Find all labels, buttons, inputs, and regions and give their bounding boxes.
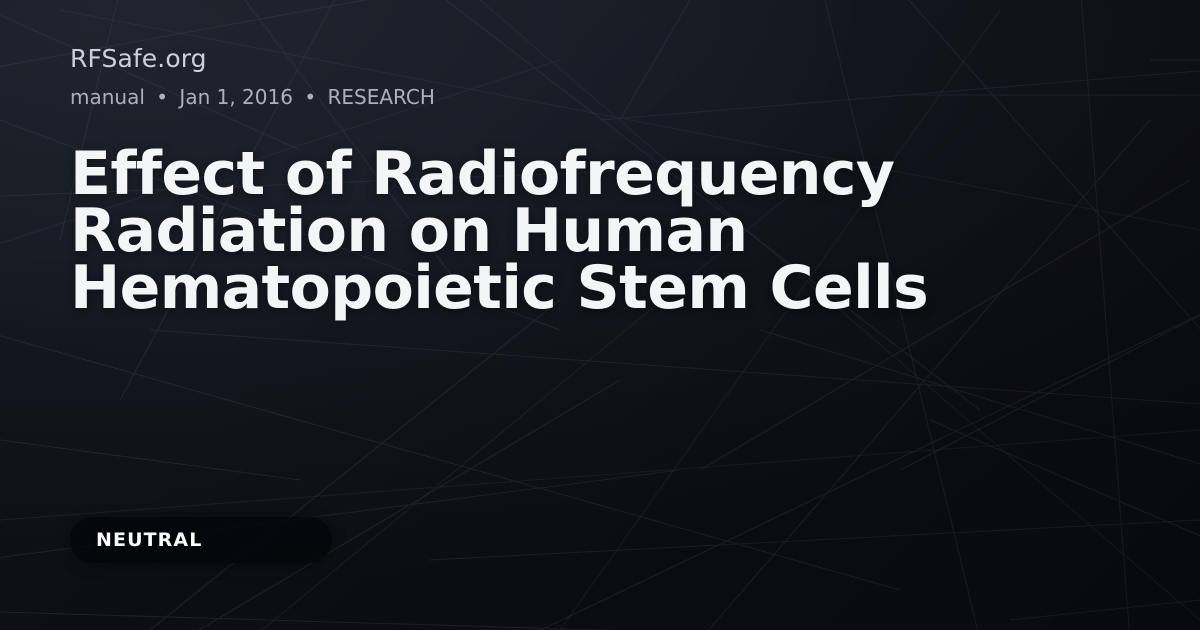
- article-meta: manual • Jan 1, 2016 • RESEARCH: [70, 84, 435, 110]
- status-badge-label: NEUTRAL: [96, 529, 202, 551]
- page-title-line-1: Effect of Radiofrequency: [70, 146, 970, 203]
- meta-separator-1: •: [151, 85, 173, 109]
- status-badge: NEUTRAL: [70, 517, 332, 563]
- meta-separator-2: •: [299, 85, 321, 109]
- meta-date: Jan 1, 2016: [179, 85, 293, 109]
- page-title: Effect of Radiofrequency Radiation on Hu…: [70, 146, 970, 317]
- meta-category: RESEARCH: [327, 85, 434, 109]
- page-title-line-2: Radiation on Human: [70, 203, 970, 260]
- social-share-card: RFSafe.org manual • Jan 1, 2016 • RESEAR…: [0, 0, 1200, 630]
- site-name: RFSafe.org: [70, 44, 207, 74]
- card-content: RFSafe.org manual • Jan 1, 2016 • RESEAR…: [70, 0, 1130, 630]
- meta-source: manual: [70, 85, 145, 109]
- page-title-line-3: Hematopoietic Stem Cells: [70, 260, 970, 317]
